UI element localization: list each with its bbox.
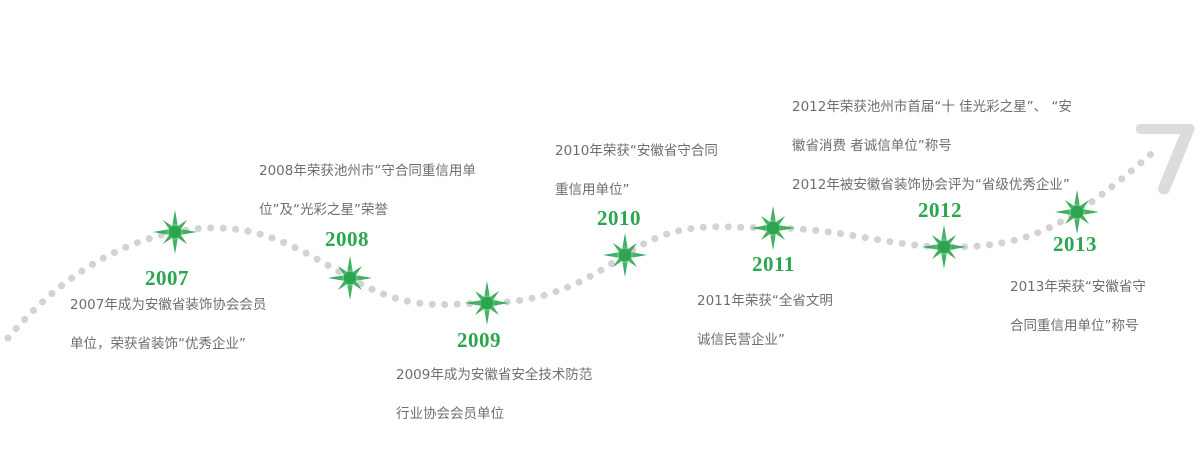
star-burst-icon-2012 [921, 224, 967, 270]
description-line: 2007年成为安徽省装饰协会会员 [70, 286, 266, 325]
description-line: 位”及“光彩之星”荣誉 [259, 191, 476, 230]
timeline-infographic: 20072007年成为安徽省装饰协会会员单位，荣获省装饰“优秀企业”200820… [0, 0, 1200, 465]
year-label-2009: 2009 [457, 328, 501, 353]
star-burst-icon-2007 [152, 209, 198, 255]
description-line: 合同重信用单位”称号 [1010, 307, 1146, 346]
description-line: 徽省消费 者诚信单位”称号 [792, 127, 1072, 166]
star-burst-icon-2013 [1054, 189, 1100, 235]
description-line: 行业协会会员单位 [396, 395, 592, 434]
description-line: 2010年荣获“安徽省守合同 [555, 132, 718, 171]
star-burst-icon-2011 [750, 205, 796, 251]
description-line: 2012年荣获池州市首届“十 佳光彩之星”、 “安 [792, 88, 1072, 127]
description-line: 诚信民营企业” [697, 321, 833, 360]
year-label-2013: 2013 [1053, 232, 1097, 257]
arrow-seven-icon [1134, 118, 1200, 196]
milestone-description-2007: 2007年成为安徽省装饰协会会员单位，荣获省装饰“优秀企业” [70, 286, 266, 364]
milestone-description-2011: 2011年荣获“全省文明诚信民营企业” [697, 282, 833, 360]
milestone-description-2012: 2012年荣获池州市首届“十 佳光彩之星”、 “安徽省消费 者诚信单位”称号20… [792, 88, 1072, 205]
year-label-2008: 2008 [325, 227, 369, 252]
milestone-description-2013: 2013年荣获“安徽省守合同重信用单位”称号 [1010, 268, 1146, 346]
year-label-2011: 2011 [752, 252, 795, 277]
description-line: 2013年荣获“安徽省守 [1010, 268, 1146, 307]
star-burst-icon-2010 [602, 232, 648, 278]
star-burst-icon-2009 [464, 280, 510, 326]
description-line: 重信用单位” [555, 171, 718, 210]
milestone-description-2008: 2008年荣获池州市“守合同重信用单位”及“光彩之星”荣誉 [259, 152, 476, 230]
description-line: 2011年荣获“全省文明 [697, 282, 833, 321]
description-line: 2008年荣获池州市“守合同重信用单 [259, 152, 476, 191]
milestone-description-2010: 2010年荣获“安徽省守合同重信用单位” [555, 132, 718, 210]
description-line: 单位，荣获省装饰“优秀企业” [70, 325, 266, 364]
star-burst-icon-2008 [327, 255, 373, 301]
description-line: 2012年被安徽省装饰协会评为“省级优秀企业” [792, 166, 1072, 205]
milestone-description-2009: 2009年成为安徽省安全技术防范行业协会会员单位 [396, 356, 592, 434]
description-line: 2009年成为安徽省安全技术防范 [396, 356, 592, 395]
